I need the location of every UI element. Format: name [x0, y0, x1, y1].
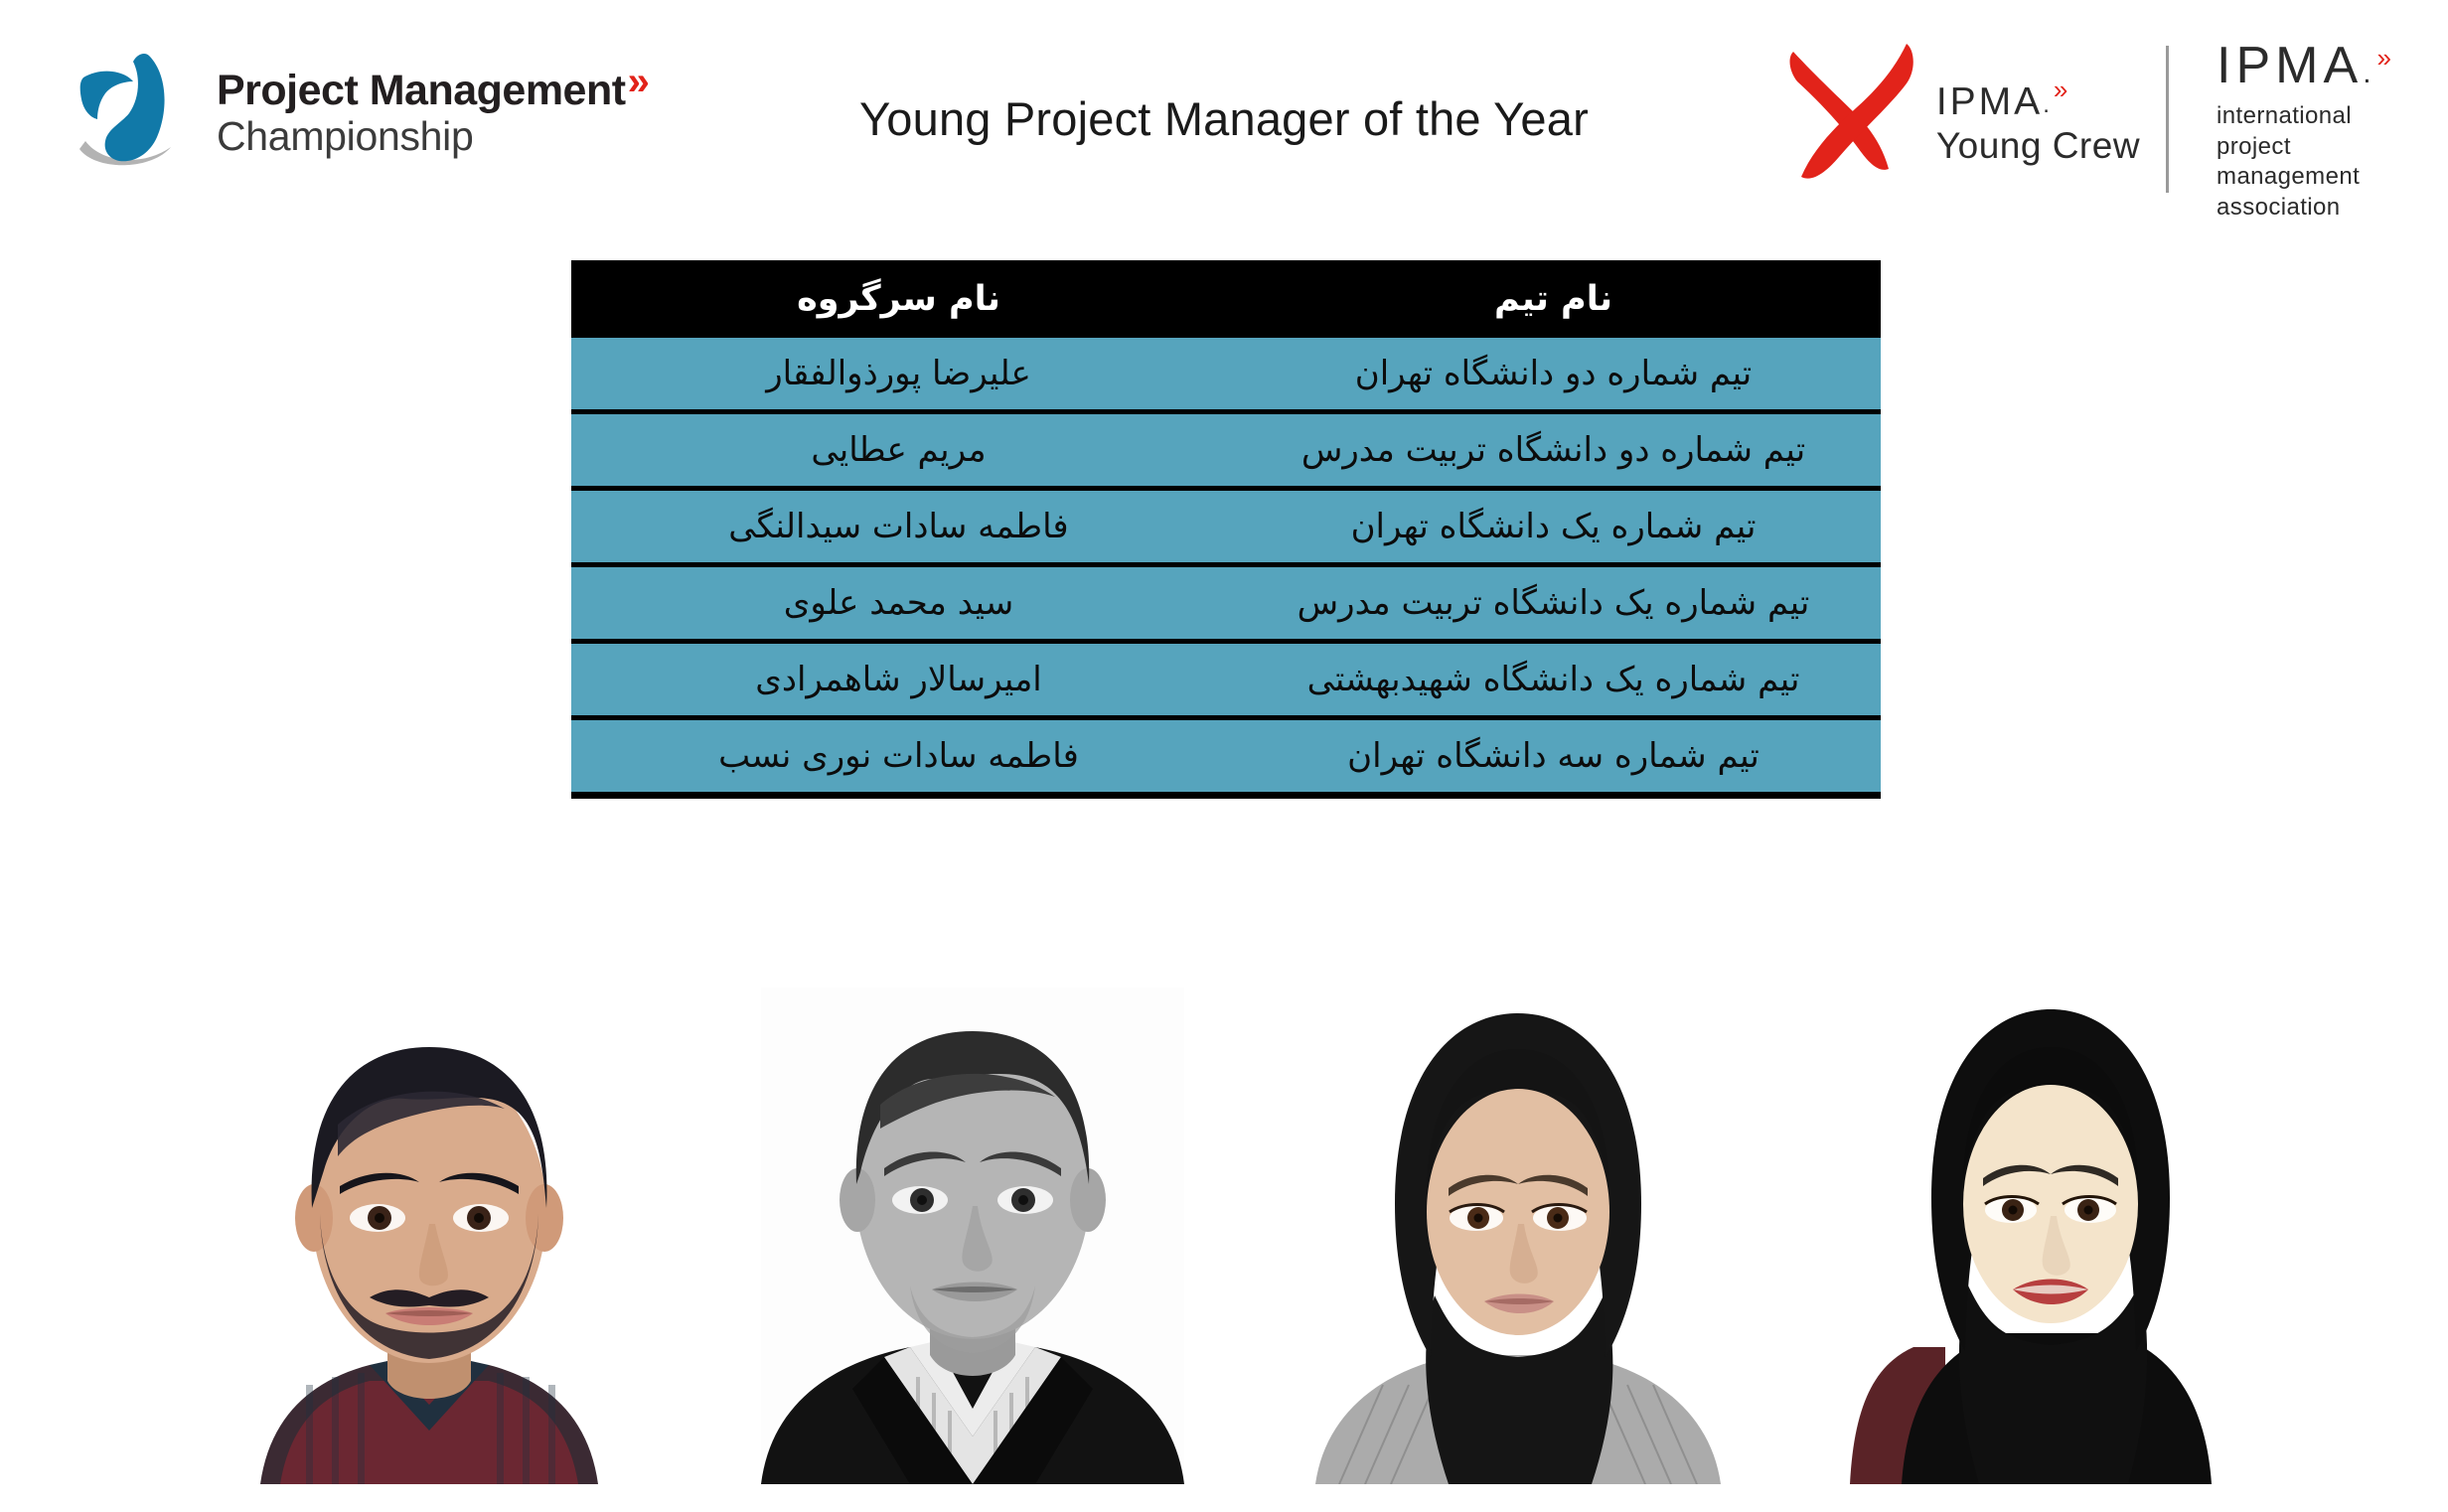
- cell-team: تیم شماره سه دانشگاه تهران: [1226, 718, 1881, 796]
- table-body: تیم شماره دو دانشگاه تهران علیرضا پورذوا…: [571, 338, 1881, 796]
- young-crew-chevron-icon: »: [2054, 75, 2067, 104]
- table-row: تیم شماره یک دانشگاه شهیدبهشتی امیرسالار…: [571, 642, 1881, 718]
- ipma-logo-group: IPMA.» Young Crew IPMA.» international p…: [1787, 38, 2390, 224]
- young-crew-dot-icon: .: [2043, 91, 2053, 118]
- portrait-photo-2-frame: [761, 987, 1184, 1484]
- cell-leader: فاطمه سادات سیدالنگی: [571, 489, 1226, 565]
- ipma-sub-line-2: project: [2217, 132, 2390, 163]
- young-crew-wordmark: IPMA.» Young Crew: [1936, 82, 2140, 166]
- portrait-photo-3-frame: [1309, 968, 1727, 1484]
- cell-leader: فاطمه سادات نوری نسب: [571, 718, 1226, 796]
- young-crew-sub-label: Young Crew: [1936, 127, 2140, 166]
- young-crew-ipma-text: IPMA.»: [1936, 82, 2140, 123]
- table-row: تیم شماره سه دانشگاه تهران فاطمه سادات ن…: [571, 718, 1881, 796]
- cell-leader: امیرسالار شاهمرادی: [571, 642, 1226, 718]
- ipma-young-crew-logo: IPMA.» Young Crew: [1787, 38, 2140, 187]
- slide-header: Project Management» Championship Young P…: [0, 0, 2448, 228]
- ipma-subtitle: international project management associa…: [2217, 101, 2390, 224]
- ipma-wordmark: IPMA.»: [2217, 40, 2390, 91]
- portrait-photo-4-frame: [1850, 968, 2249, 1484]
- ipma-association-logo: IPMA.» international project management …: [2217, 40, 2390, 224]
- table-row: تیم شماره یک دانشگاه تهران فاطمه سادات س…: [571, 489, 1881, 565]
- portrait-photo-4: [1850, 968, 2249, 1484]
- table-row: تیم شماره دو دانشگاه تهران علیرضا پورذوا…: [571, 338, 1881, 412]
- column-header-leader: نام سرگروه: [571, 260, 1226, 338]
- ipma-sub-line-3: management: [2217, 162, 2390, 193]
- ipma-dot-icon: .: [2363, 57, 2375, 89]
- portrait-photo-row: [0, 964, 2448, 1512]
- ipma-sub-line-1: international: [2217, 101, 2390, 132]
- portrait-photo-1-frame: [221, 964, 638, 1484]
- teams-table: نام تیم نام سرگروه تیم شماره دو دانشگاه …: [571, 260, 1881, 799]
- cell-leader: علیرضا پورذوالفقار: [571, 338, 1226, 412]
- ipma-word-label: IPMA: [2217, 37, 2363, 94]
- young-crew-x-icon: [1787, 38, 1918, 187]
- logo-divider: [2166, 46, 2169, 193]
- table-header-row: نام تیم نام سرگروه: [571, 260, 1881, 338]
- ipma-sub-line-4: association: [2217, 193, 2390, 224]
- cell-leader: سید محمد علوی: [571, 565, 1226, 642]
- cell-team: تیم شماره دو دانشگاه تربیت مدرس: [1226, 412, 1881, 489]
- portrait-photo-1: [221, 964, 638, 1484]
- table-head: نام تیم نام سرگروه: [571, 260, 1881, 338]
- portrait-photo-2: [761, 987, 1184, 1484]
- cell-team: تیم شماره دو دانشگاه تهران: [1226, 338, 1881, 412]
- cell-team: تیم شماره یک دانشگاه تهران: [1226, 489, 1881, 565]
- cell-team: تیم شماره یک دانشگاه شهیدبهشتی: [1226, 642, 1881, 718]
- cell-leader: مریم عطایی: [571, 412, 1226, 489]
- cell-team: تیم شماره یک دانشگاه تربیت مدرس: [1226, 565, 1881, 642]
- table-row: تیم شماره دو دانشگاه تربیت مدرس مریم عطا…: [571, 412, 1881, 489]
- portrait-photo-3: [1309, 968, 1727, 1484]
- young-crew-ipma-label: IPMA: [1936, 80, 2043, 123]
- ipma-chevron-icon: »: [2377, 43, 2391, 73]
- column-header-team: نام تیم: [1226, 260, 1881, 338]
- table-row: تیم شماره یک دانشگاه تربیت مدرس سید محمد…: [571, 565, 1881, 642]
